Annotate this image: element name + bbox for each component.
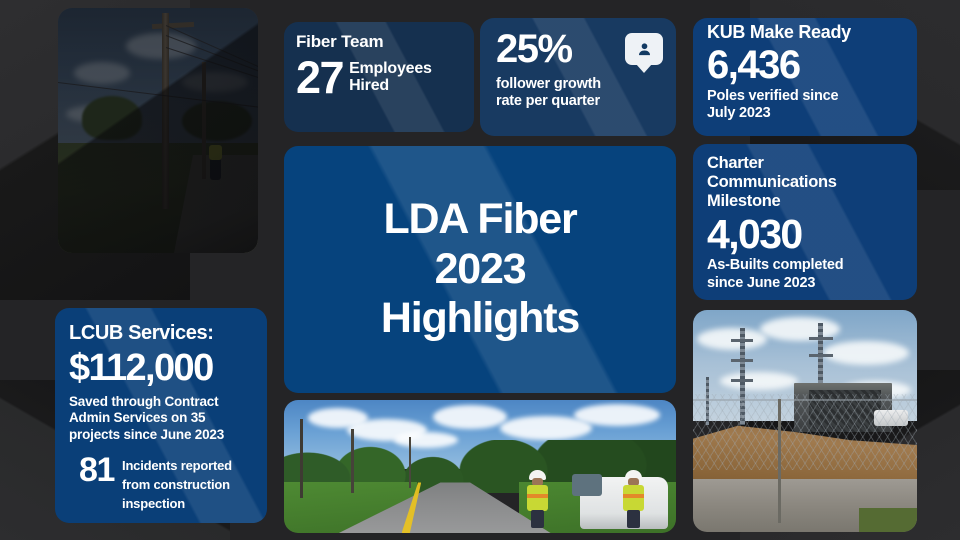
photo-dark-overlay [58,8,258,253]
charter-caption-line2: since June 2023 [707,275,903,292]
lcub-incidents-label: Incidents reported from construction ins… [122,455,232,512]
card-main-title: LDA Fiber 2023 Highlights [284,146,676,393]
vest-stripe [527,494,548,498]
utility-pole [300,419,303,499]
cloud [574,404,660,426]
tower-crossarm [731,379,753,382]
charter-caption-line1: As-Builts completed [707,257,903,274]
kub-number: 6,436 [707,44,903,86]
kub-caption-line1: Poles verified since [707,88,903,105]
page-title-line2: 2023 [435,245,526,295]
worker-legs [627,510,640,528]
tower-crossarm [731,359,753,362]
follower-growth-percent: 25% [496,28,572,70]
lcub-incidents-stat: 81 Incidents reported from construction … [69,455,253,512]
grass-patch [859,508,917,532]
worker-legs [531,510,544,528]
charter-title-line1: Charter [707,154,903,173]
page-title-line1: LDA Fiber [383,195,576,245]
vest-stripe [623,494,644,498]
fiber-team-label-line2: Hired [349,78,432,95]
lcub-incidents-line2: from construction [122,474,232,493]
fiber-team-label-line1: Employees [349,61,432,78]
card-charter-communications: Charter Communications Milestone 4,030 A… [693,144,917,300]
lcub-incidents-line1: Incidents reported [122,455,232,474]
page-title-line3: Highlights [381,294,579,344]
worker-hiviz-vest [527,485,548,511]
fiber-team-stat: 27 Employees Hired [296,56,462,100]
charter-title-line3: Milestone [707,192,903,211]
utility-pole-worker-photo [58,8,258,253]
lcub-caption-line1: Saved through Contract [69,394,253,410]
card-lcub-services: LCUB Services: $112,000 Saved through Co… [55,308,267,523]
utility-pole [351,429,354,493]
person-bubble-icon [625,33,663,65]
cloud [823,341,909,365]
lcub-amount: $112,000 [69,347,253,391]
kub-brand-label: KUB [707,22,745,42]
fiber-team-label: Employees Hired [349,61,432,95]
photo-scene [693,310,917,532]
fence-post [778,399,781,523]
lcub-incidents-number: 81 [79,455,114,486]
lcub-caption-line3: projects since June 2023 [69,427,253,443]
fiber-team-title: Fiber Team [296,32,462,52]
follower-growth-caption-line2: rate per quarter [496,93,663,110]
card-fiber-team: Fiber Team 27 Employees Hired [284,22,474,132]
lcub-incidents-line3: inspection [122,493,232,512]
utility-pole [409,437,411,488]
card-kub-make-ready: KUB Make Ready 6,436 Poles verified sinc… [693,18,917,136]
kub-heading: KUB Make Ready [707,22,903,43]
worker-hiviz-vest [623,485,644,511]
lcub-title: LCUB Services: [69,322,253,345]
truck-window [572,474,602,496]
kub-caption-line2: July 2023 [707,105,903,122]
tower-crossarm [809,337,833,340]
field-worker [527,470,548,528]
substation-construction-site-photo [693,310,917,532]
kub-title-label: Make Ready [750,22,851,42]
road-crew-survey-photo [284,400,676,533]
photo-scene [284,400,676,533]
chain-link-fence [693,394,917,469]
fiber-team-number: 27 [296,56,343,100]
field-worker [623,470,644,528]
follower-growth-caption-line1: follower growth [496,76,663,93]
tower-crossarm [809,354,833,357]
charter-number: 4,030 [707,213,903,256]
lcub-caption-line2: Admin Services on 35 [69,410,253,426]
card-follower-growth: 25% follower growth rate per quarter [480,18,676,136]
charter-title-line2: Communications [707,173,903,192]
tower-crossarm [731,339,753,342]
